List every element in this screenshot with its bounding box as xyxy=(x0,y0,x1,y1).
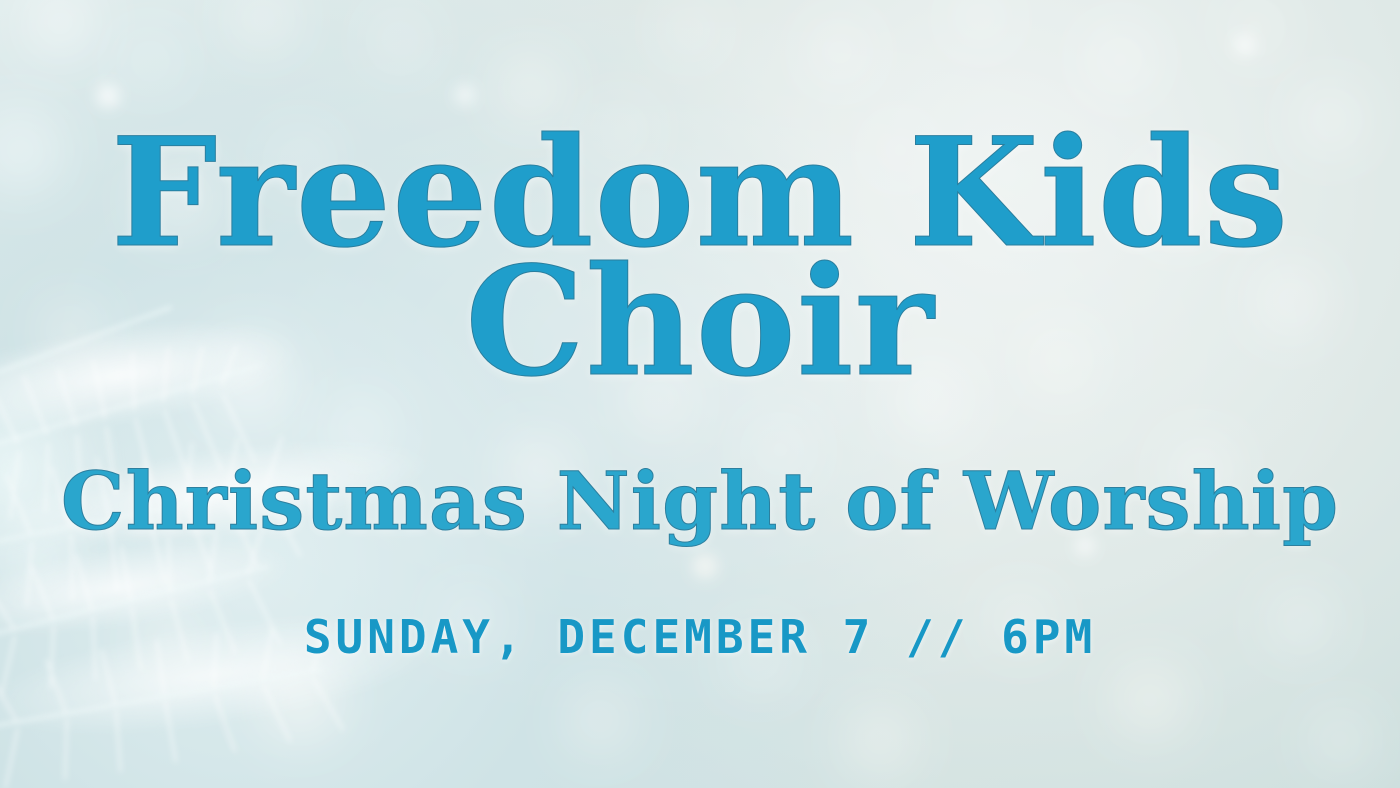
poster-event-details: SUNDAY, DECEMBER 7 // 6PM xyxy=(304,610,1096,664)
poster-subtitle: Christmas Night of Worship xyxy=(61,454,1339,548)
poster-canvas: Freedom Kids Choir Christmas Night of Wo… xyxy=(0,0,1400,788)
poster-title-line-2: Choir xyxy=(465,249,935,396)
poster-text-block: Freedom Kids Choir Christmas Night of Wo… xyxy=(0,0,1400,788)
